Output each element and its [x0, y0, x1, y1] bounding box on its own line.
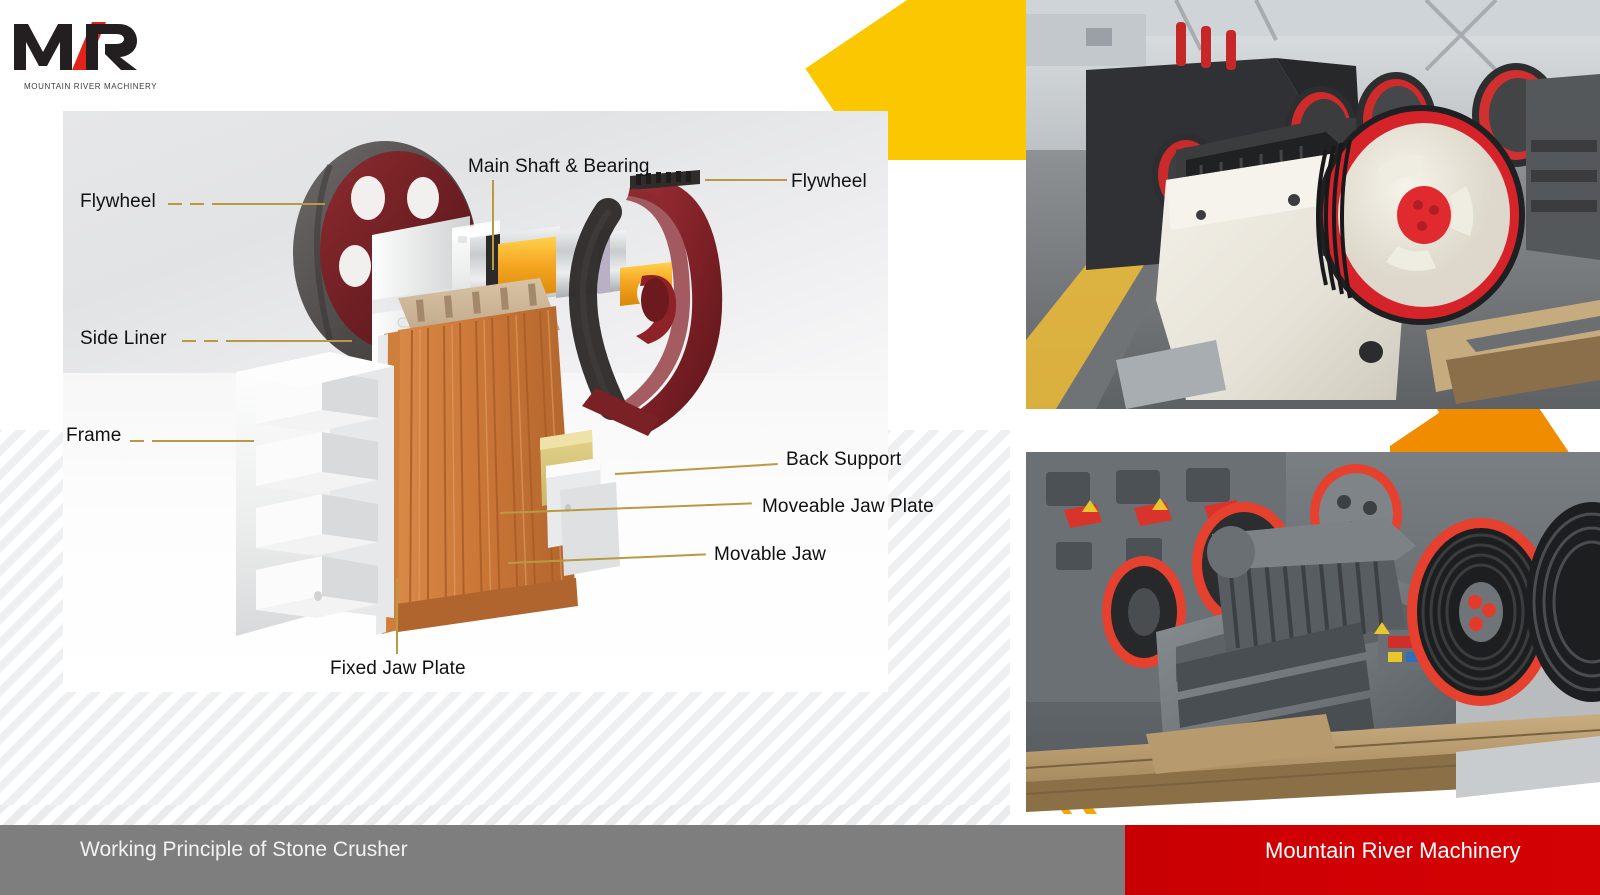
photo-gray-crusher-on-pallet: [1026, 452, 1600, 812]
label-moveable-jaw-plate: Moveable Jaw Plate: [762, 496, 934, 518]
photo-factory-row-white-crushers: [1026, 0, 1600, 409]
label-main-shaft-bearing: Main Shaft & Bearing: [468, 156, 650, 178]
flywheel-right-graphic: [582, 170, 722, 436]
slide-root: MOUNTAIN RIVER MACHINERY: [0, 0, 1600, 895]
leader-flywheel-right: [705, 179, 787, 181]
slide-title: Working Principle of Stone Crusher: [80, 838, 408, 862]
label-fixed-jaw-plate: Fixed Jaw Plate: [330, 658, 466, 680]
frame-graphic: [236, 352, 394, 636]
leader-frame-dash: [130, 440, 154, 442]
leader-flywheel-left: [168, 203, 212, 205]
label-frame: Frame: [66, 425, 121, 447]
footer-stripe-texture: [0, 805, 1010, 827]
leader-frame: [154, 440, 254, 442]
leader-main-shaft-bearing: [492, 180, 494, 270]
leader-side-liner-solid: [232, 340, 352, 342]
label-flywheel-left: Flywheel: [80, 191, 156, 213]
jaw-crusher-cutaway-illustration: [0, 0, 1000, 760]
footer-company-name: Mountain River Machinery: [1265, 838, 1521, 864]
label-back-support: Back Support: [786, 449, 901, 471]
leader-flywheel-left-solid: [212, 203, 325, 205]
leader-fixed-jaw-plate: [396, 578, 398, 654]
leader-side-liner: [182, 340, 232, 342]
label-movable-jaw: Movable Jaw: [714, 544, 826, 566]
label-flywheel-right: Flywheel: [791, 171, 867, 193]
label-side-liner: Side Liner: [80, 328, 167, 350]
orange-diagonal-ribbon: [1390, 405, 1600, 457]
